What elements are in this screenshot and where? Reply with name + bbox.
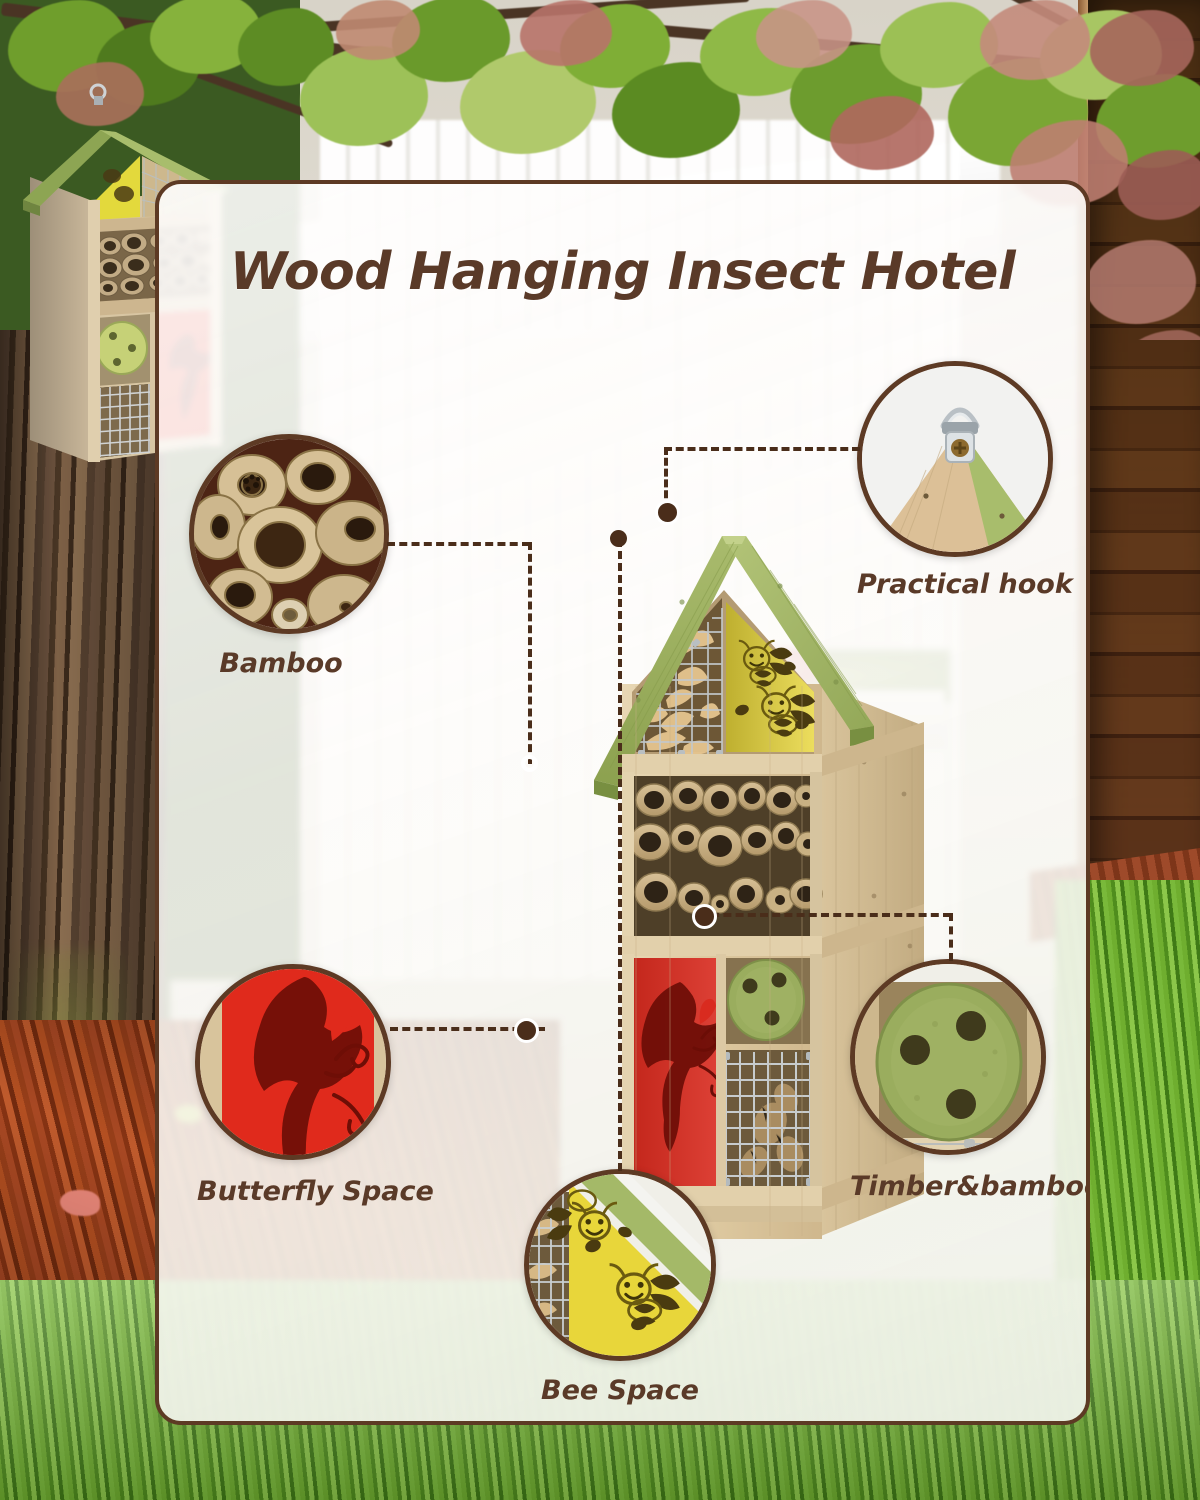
callout-butterfly-space: Butterfly Space: [195, 964, 391, 1160]
connector-hook-endpoint: [655, 500, 680, 525]
page-title: Wood Hanging Insect Hotel: [159, 242, 1086, 302]
connector-bamboo-endpoint: [521, 755, 538, 772]
connector-bamboo-h: [387, 542, 530, 546]
callout-butterfly-space-label: Butterfly Space: [197, 1176, 393, 1207]
drilled-log-icon: [850, 959, 1046, 1155]
callout-bee-space: Bee Space: [524, 1169, 716, 1361]
connector-bee-v: [618, 539, 622, 1171]
callout-timber-bamboo-label: Timber&bamboo: [850, 1171, 1046, 1202]
connector-bee-endpoint: [610, 530, 627, 547]
bamboo-icon: [189, 434, 389, 634]
callout-practical-hook: Practical hook: [857, 361, 1053, 557]
connector-timber-h: [699, 913, 951, 917]
callout-practical-hook-label: Practical hook: [857, 569, 1053, 600]
butterfly-panel-icon: [195, 964, 391, 1160]
bee-panel-icon: [524, 1169, 716, 1361]
product-info-card: Wood Hanging Insect Hotel: [155, 180, 1090, 1425]
callout-timber-bamboo: Timber&bamboo: [850, 959, 1046, 1155]
callout-bamboo: Bamboo: [189, 434, 389, 634]
callout-bee-space-label: Bee Space: [524, 1375, 716, 1406]
callout-bamboo-label: Bamboo: [181, 648, 381, 679]
connector-butterfly-endpoint: [514, 1018, 539, 1043]
connector-bamboo-v: [528, 542, 532, 764]
connector-timber-v: [949, 913, 953, 961]
connector-timber-endpoint: [692, 904, 717, 929]
d-ring-hook-icon: [857, 361, 1053, 557]
connector-hook-h: [664, 447, 860, 451]
